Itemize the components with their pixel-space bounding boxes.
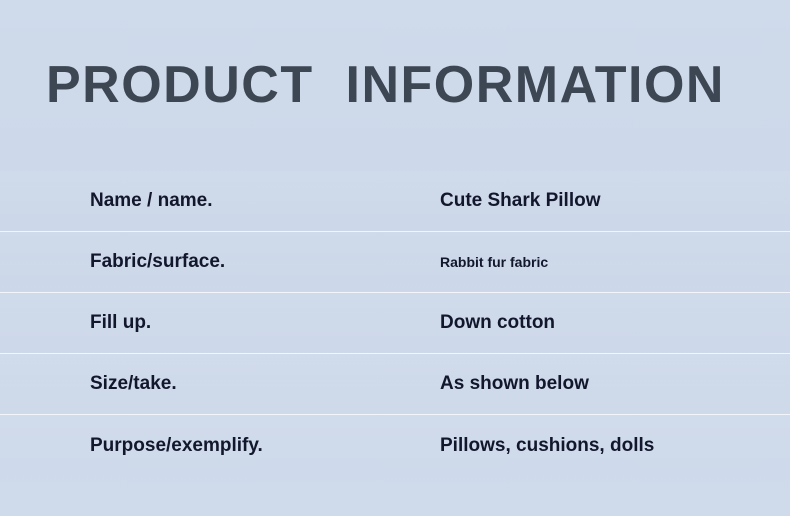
spec-value: Rabbit fur fabric	[440, 254, 548, 270]
spec-label: Fill up.	[90, 312, 151, 334]
spec-label: Fabric/surface.	[90, 251, 225, 273]
spec-value: Pillows, cushions, dolls	[440, 435, 654, 457]
product-information-banner: PRODUCT INFORMATION Name / name. Cute Sh…	[0, 0, 790, 516]
table-row: Purpose/exemplify. Pillows, cushions, do…	[0, 415, 790, 476]
spec-value: As shown below	[440, 373, 589, 395]
product-spec-table: Name / name. Cute Shark Pillow Fabric/su…	[0, 171, 790, 476]
table-row: Fabric/surface. Rabbit fur fabric	[0, 232, 790, 293]
spec-label: Name / name.	[90, 190, 213, 212]
table-row: Size/take. As shown below	[0, 354, 790, 415]
spec-label: Purpose/exemplify.	[90, 435, 263, 457]
spec-value: Cute Shark Pillow	[440, 190, 600, 212]
spec-value: Down cotton	[440, 312, 555, 334]
table-row: Name / name. Cute Shark Pillow	[0, 171, 790, 232]
page-title: PRODUCT INFORMATION	[46, 58, 725, 113]
spec-label: Size/take.	[90, 373, 177, 395]
table-row: Fill up. Down cotton	[0, 293, 790, 354]
